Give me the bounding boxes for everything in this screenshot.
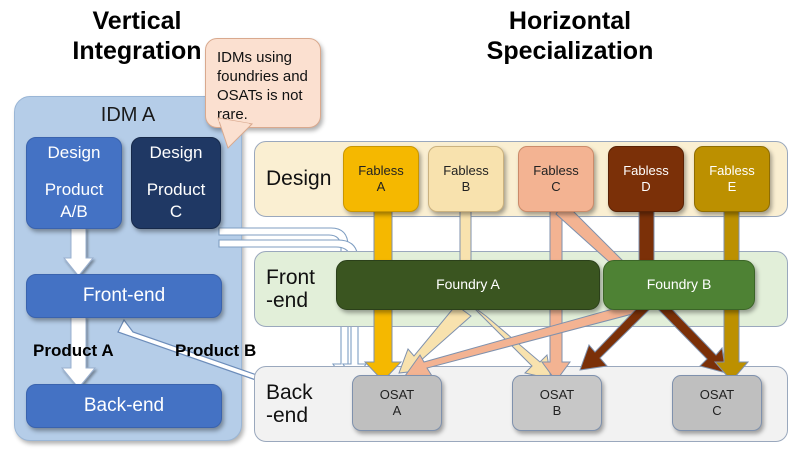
node-osat-c-line2: C (712, 403, 721, 419)
node-osat-a[interactable]: OSAT A (352, 375, 442, 431)
box-design-c-title: Design (150, 142, 203, 165)
right-title-line1: Horizontal (400, 6, 740, 36)
box-front-end-label: Front-end (83, 283, 165, 309)
node-fabless-d-line2: D (641, 179, 650, 195)
node-osat-b[interactable]: OSAT B (512, 375, 602, 431)
left-title-line1: Vertical (22, 6, 252, 36)
product-a-label: Product A (33, 341, 114, 361)
box-design-product-c[interactable]: Design Product C (131, 137, 221, 229)
node-osat-b-line2: B (553, 403, 562, 419)
box-design-c-sub1: Product (147, 179, 206, 202)
node-fabless-e[interactable]: Fabless E (694, 146, 770, 212)
callout-text: IDMs using foundries and OSATs is not ra… (217, 49, 308, 123)
band-front-label-line1: Front (266, 266, 315, 289)
box-back-end[interactable]: Back-end (26, 384, 222, 428)
band-design-label-line1: Design (266, 167, 331, 190)
node-fabless-c[interactable]: Fabless C (518, 146, 594, 212)
node-osat-c-line1: OSAT (700, 387, 734, 403)
right-title: Horizontal Specialization (400, 6, 740, 66)
diagram-canvas: Vertical Integration Horizontal Speciali… (0, 0, 797, 470)
node-osat-a-line1: OSAT (380, 387, 414, 403)
node-osat-c[interactable]: OSAT C (672, 375, 762, 431)
band-back-label-line1: Back (266, 381, 313, 404)
node-foundry-a-label: Foundry A (436, 276, 500, 294)
callout-bubble: IDMs using foundries and OSATs is not ra… (205, 38, 321, 128)
node-foundry-b[interactable]: Foundry B (603, 260, 755, 310)
band-back-label-line2: -end (266, 404, 313, 427)
box-design-ab-sub1: Product (45, 179, 104, 202)
box-design-c-sub2: C (170, 201, 182, 224)
node-osat-a-line2: A (393, 403, 402, 419)
node-osat-b-line1: OSAT (540, 387, 574, 403)
node-fabless-a-line2: A (377, 179, 386, 195)
node-fabless-e-line2: E (728, 179, 737, 195)
node-fabless-a[interactable]: Fabless A (343, 146, 419, 212)
node-fabless-b[interactable]: Fabless B (428, 146, 504, 212)
node-fabless-c-line2: C (551, 179, 560, 195)
box-front-end[interactable]: Front-end (26, 274, 222, 318)
node-fabless-b-line2: B (462, 179, 471, 195)
node-foundry-b-label: Foundry B (647, 276, 712, 294)
box-back-end-label: Back-end (84, 393, 164, 419)
node-fabless-e-line1: Fabless (709, 163, 755, 179)
node-fabless-d[interactable]: Fabless D (608, 146, 684, 212)
band-back-end-label: Back -end (266, 381, 313, 427)
node-fabless-c-line1: Fabless (533, 163, 579, 179)
box-design-ab-sub2: A/B (60, 201, 87, 224)
right-title-line2: Specialization (400, 36, 740, 66)
box-design-product-ab[interactable]: Design Product A/B (26, 137, 122, 229)
product-b-label: Product B (175, 341, 256, 361)
box-design-ab-title: Design (48, 142, 101, 165)
node-fabless-a-line1: Fabless (358, 163, 404, 179)
band-front-label-line2: -end (266, 289, 315, 312)
band-front-end-label: Front -end (266, 266, 315, 312)
node-foundry-a[interactable]: Foundry A (336, 260, 600, 310)
node-fabless-b-line1: Fabless (443, 163, 489, 179)
node-fabless-d-line1: Fabless (623, 163, 669, 179)
band-design-label: Design (266, 167, 331, 190)
